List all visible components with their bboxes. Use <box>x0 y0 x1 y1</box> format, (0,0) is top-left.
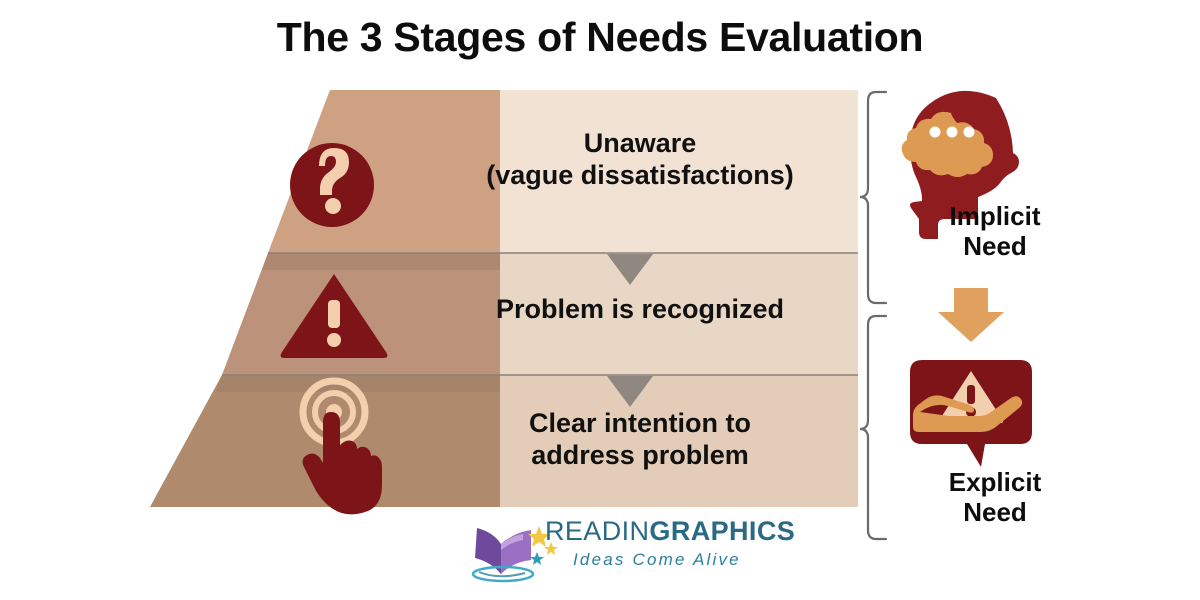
infographic-canvas: The 3 Stages of Needs Evaluation <box>0 0 1200 600</box>
tier-label-clear-intention: Clear intention to address problem <box>430 408 850 472</box>
implicit-line1: Implicit <box>949 201 1040 231</box>
explicit-line1: Explicit <box>949 467 1041 497</box>
tier2-line1: Problem is recognized <box>496 294 784 324</box>
logo-word-bold: GRAPHICS <box>649 516 795 546</box>
bracket-explicit <box>860 316 886 539</box>
explicit-line2: Need <box>963 497 1027 527</box>
tier1-line1: Unaware <box>584 128 697 158</box>
tier-label-problem-recognized: Problem is recognized <box>430 294 850 326</box>
question-mark-circle-icon <box>290 143 374 227</box>
readingraphics-logo: READINGRAPHICS Ideas Come Alive <box>455 512 775 588</box>
bracket-implicit <box>860 92 886 303</box>
logo-wordmark: READINGRAPHICS <box>545 516 795 547</box>
speech-bubble-hand-warning-icon <box>910 360 1032 467</box>
tier-label-unaware: Unaware (vague dissatisfactions) <box>430 128 850 192</box>
logo-word-light: READIN <box>545 516 649 546</box>
bracket-label-explicit: Explicit Need <box>900 468 1090 528</box>
bracket-label-implicit: Implicit Need <box>900 202 1090 262</box>
down-arrow-icon <box>938 288 1004 342</box>
tier3-line2: address problem <box>531 440 749 470</box>
logo-tagline: Ideas Come Alive <box>573 550 741 570</box>
implicit-line2: Need <box>963 231 1027 261</box>
tier3-line1: Clear intention to <box>529 408 751 438</box>
tier1-line2: (vague dissatisfactions) <box>486 160 794 190</box>
